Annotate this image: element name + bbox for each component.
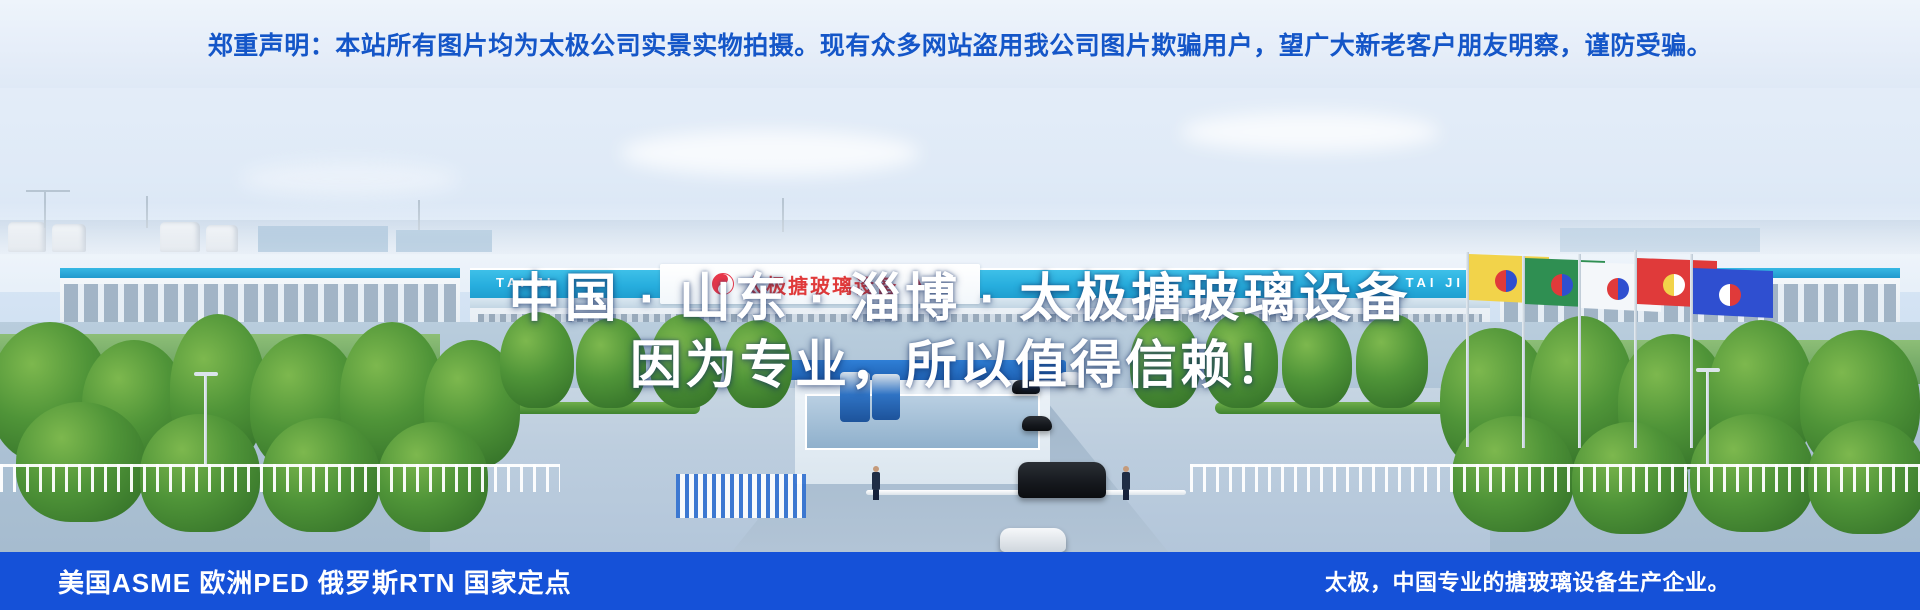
yinyang-icon <box>712 273 734 295</box>
car-entrance-black <box>1018 462 1106 498</box>
tree-l7 <box>16 402 146 522</box>
gatehouse-roof <box>779 360 1066 380</box>
certifications-text: 美国ASME 欧洲PED 俄罗斯RTN 国家定点 <box>58 563 572 600</box>
flagpole-5 <box>1690 254 1693 448</box>
flag-emblem-green <box>1551 274 1573 296</box>
building-sign-text: 太极搪玻璃设备 <box>744 270 898 299</box>
crane-2 <box>26 190 70 192</box>
tree-c5 <box>1130 316 1200 408</box>
flag-emblem-yellow <box>1495 270 1517 292</box>
left-wing-roof <box>60 268 460 278</box>
flag-blue <box>1693 268 1773 318</box>
accordion-gate <box>676 474 806 518</box>
flagpole-2 <box>1522 256 1525 448</box>
guard-right-body <box>1122 472 1130 490</box>
guard-left-body <box>872 472 880 490</box>
flagpole-4 <box>1634 250 1637 448</box>
tree-c7 <box>1282 318 1352 408</box>
guard-right-legs <box>1123 490 1129 500</box>
bus-2 <box>872 374 900 420</box>
roof-band-lower <box>470 298 1490 308</box>
bottom-certification-bar: 美国ASME 欧洲PED 俄罗斯RTN 国家定点 太极，中国专业的搪玻璃设备生产… <box>0 552 1920 610</box>
guard-left-legs <box>873 490 879 500</box>
tree-c2 <box>576 318 646 408</box>
tagline-text: 太极，中国专业的搪玻璃设备生产企业。 <box>1325 565 1730 597</box>
notice-strip: 郑重声明：本站所有图片均为太极公司实景实物拍摄。现有众多网站盗用我公司图片欺骗用… <box>0 0 1920 88</box>
car-entrance-white <box>1000 528 1066 552</box>
flag-emblem-red <box>1663 274 1685 296</box>
car-road-2 <box>1058 372 1084 385</box>
cloud-3 <box>240 162 460 196</box>
tree-c8 <box>1356 314 1428 408</box>
roof-band-cyan <box>470 270 1490 298</box>
factory-photo: TAI JI TAI JI 太极搪玻璃设备 ▲ <box>0 72 1920 552</box>
cloud-2 <box>1180 112 1440 152</box>
notice-text: 郑重声明：本站所有图片均为太极公司实景实物拍摄。现有众多网站盗用我公司图片欺骗用… <box>208 26 1713 62</box>
fence-left <box>0 464 560 492</box>
promo-banner: 郑重声明：本站所有图片均为太极公司实景实物拍摄。现有众多网站盗用我公司图片欺骗用… <box>0 0 1920 610</box>
street-lamp-right <box>1706 368 1709 464</box>
taiji-latin-right: TAI JI <box>1406 275 1464 290</box>
building-sign: 太极搪玻璃设备 ▲ <box>660 264 980 304</box>
guard-left <box>872 466 880 500</box>
taiji-latin-left: TAI JI <box>496 275 554 290</box>
tree-c6 <box>1204 312 1278 408</box>
flagpole-1 <box>1466 252 1469 447</box>
flagpole-3 <box>1578 254 1581 448</box>
flag-emblem-white <box>1607 278 1629 300</box>
flag-emblem-blue <box>1719 284 1741 306</box>
taiji-mark-icon: ▲ <box>908 273 928 296</box>
bus-1 <box>840 372 870 422</box>
cloud-1 <box>620 130 920 176</box>
car-road-3 <box>1022 416 1052 431</box>
fence-right <box>1190 464 1920 492</box>
street-lamp-left <box>204 372 207 464</box>
tree-c3 <box>650 314 722 408</box>
guard-right <box>1122 466 1130 500</box>
tree-c4 <box>724 320 792 408</box>
car-road-1 <box>1012 380 1040 394</box>
tree-c1 <box>500 312 574 408</box>
